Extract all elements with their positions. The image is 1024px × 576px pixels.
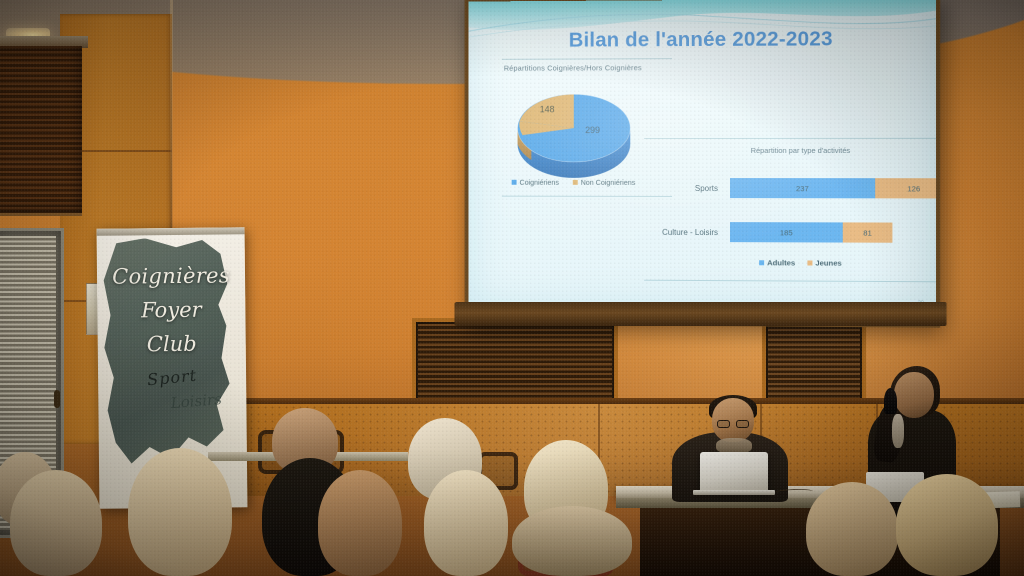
window-right [762,318,866,404]
legend-swatch-icon [573,180,578,185]
bar-row-culture-loisirs: Culture - Loisirs 185 81 [656,220,936,245]
slide-title: Bilan de l'année 2022-2023 [468,27,936,53]
legend-swatch-icon [512,180,517,185]
projected-slide: Bilan de l'année 2022-2023 Répartitions … [468,0,936,312]
audience-head [318,470,402,576]
projection-screen-bottom-bar [455,302,947,326]
audience-head [896,474,998,576]
legend-label: Non Coigniériens [581,178,636,187]
audience-head [424,470,508,576]
bar-track: 185 81 [730,222,892,243]
pie-chart-title: Répartitions Coignières/Hors Coignières [504,63,732,73]
window-blind-slats [768,324,860,398]
legend-label: Adultes [767,258,795,267]
legend-item-jeunes: Jeunes [807,258,842,267]
bar-track: 237 126 [730,178,936,198]
pie-value-non-coignierens: 148 [540,104,555,114]
laptop-base [693,490,775,495]
bar-segment-adultes: 185 [730,222,843,242]
legend-label: Coigniériens [520,178,559,187]
divider [644,280,936,283]
bar-chart-title: Répartition par type d'activités [666,146,936,155]
bar-category-label: Sports [656,176,724,200]
bar-category-label: Culture - Loisirs [656,220,724,244]
legend-swatch-icon [807,260,812,265]
bar-segment-jeunes: 81 [843,222,893,242]
audience-shoulders [512,506,632,576]
window-center [412,318,618,404]
bar-segment-jeunes: 126 [875,178,936,198]
standing-presenter-head [894,372,934,418]
presentation-room-photo: Bilan de l'année 2022-2023 Répartitions … [0,0,1024,576]
pie-value-coignierens: 299 [585,125,600,135]
microphone-icon [884,388,897,414]
banner-text-club: Club [98,331,246,357]
legend-swatch-icon [759,260,764,265]
window-blind-slats [418,324,612,398]
banner-text-coignieres: Coignières [97,263,245,289]
window-blind-upper-left [0,46,82,216]
bar-chart-legend: Adultes Jeunes [666,258,936,268]
banner-top-rail [97,227,245,236]
legend-label: Jeunes [815,259,841,268]
banner-text-foyer: Foyer [97,297,245,323]
audience-head [10,470,102,576]
audience-head [128,448,232,576]
bar-row-sports: Sports 237 126 [656,176,936,200]
pie-chart: 299 148 [510,80,639,178]
bar-segment-adultes: 237 [730,178,875,198]
legend-item-adultes: Adultes [759,258,795,267]
audience-head [806,482,898,576]
divider [502,196,672,197]
door-knob [54,390,60,408]
standing-presenter-scarf [892,414,904,448]
legend-item-non-coignierens: Non Coigniériens [573,178,636,187]
legend-item-coignierens: Coigniériens [512,178,559,187]
pie-chart-svg: 299 148 [510,80,639,178]
divider [502,58,672,60]
divider [644,138,936,139]
laptop-screen [700,452,768,492]
eyeglasses-icon [717,420,749,428]
